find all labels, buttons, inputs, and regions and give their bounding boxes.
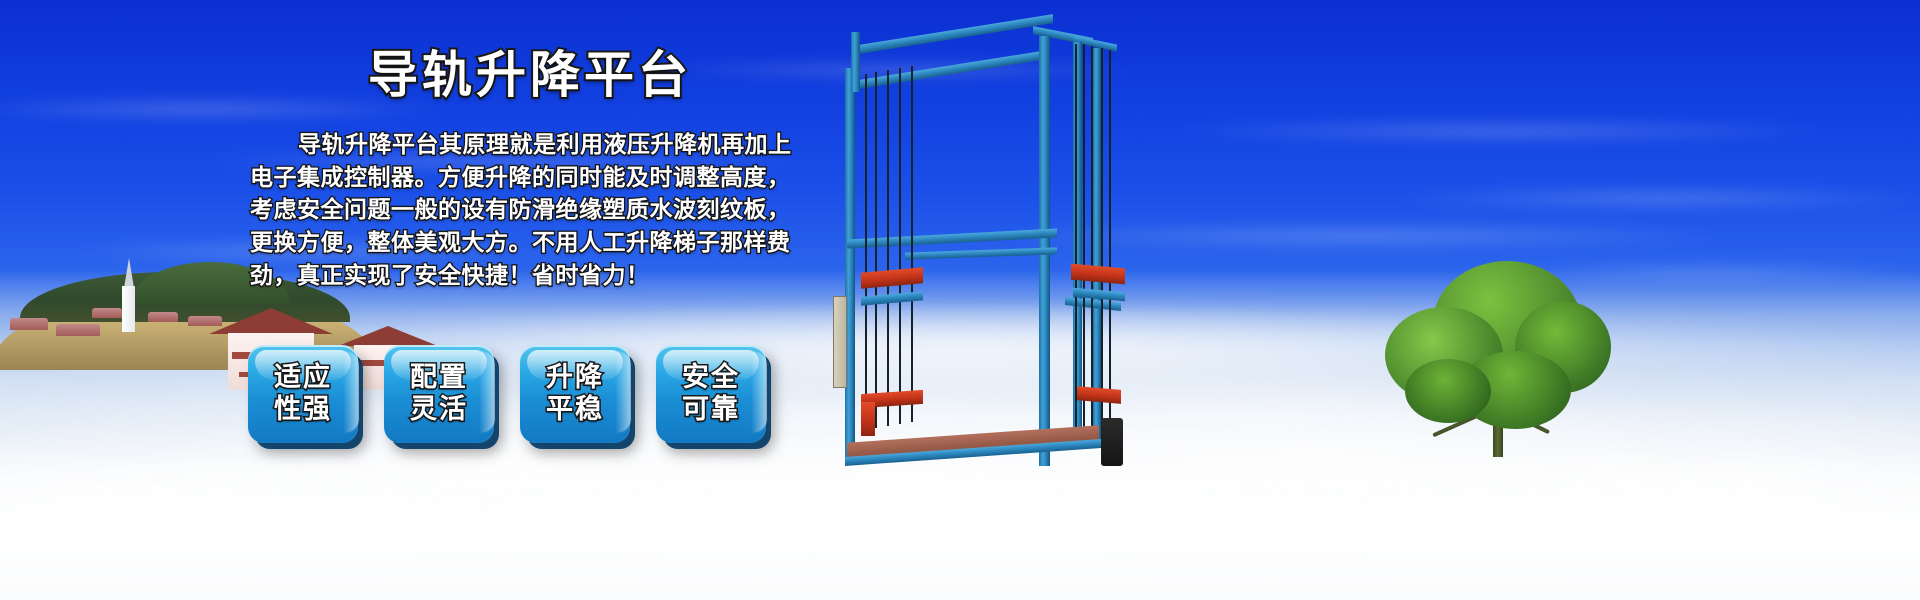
feature-button-line1: 配置 [410, 362, 468, 394]
paragraph-line: 考虑安全问题一般的设有防滑绝缘塑质水波刻纹板， [250, 194, 810, 227]
description-paragraph: 导轨升降平台其原理就是利用液压升降机再加上 电子集成控制器。方便升降的同时能及时… [250, 129, 810, 292]
guide-rail-lift-platform-image [825, 18, 1125, 488]
green-tree [1375, 255, 1615, 460]
feature-button-line2: 灵活 [410, 394, 468, 426]
paragraph-line: 电子集成控制器。方便升降的同时能及时调整高度， [250, 162, 810, 195]
power-unit [1101, 418, 1123, 466]
feature-button-line2: 平稳 [546, 394, 604, 426]
paragraph-line: 导轨升降平台其原理就是利用液压升降机再加上 [250, 129, 810, 162]
feature-button-configuration[interactable]: 配置 灵活 [384, 345, 494, 443]
text-column: 导轨升降平台 导轨升降平台其原理就是利用液压升降机再加上 电子集成控制器。方便升… [250, 48, 810, 292]
red-crosshead-left [861, 267, 923, 288]
feature-button-smooth-lifting[interactable]: 升降 平稳 [520, 345, 630, 443]
feature-button-line1: 安全 [682, 362, 740, 394]
paragraph-line: 劲，真正实现了安全快捷！省时省力！ [250, 260, 810, 293]
feature-button-safety[interactable]: 安全 可靠 [656, 345, 766, 443]
feature-button-line2: 可靠 [682, 394, 740, 426]
feature-button-line1: 适应 [274, 362, 332, 394]
product-banner: 导轨升降平台 导轨升降平台其原理就是利用液压升降机再加上 电子集成控制器。方便升… [0, 0, 1920, 600]
feature-button-line1: 升降 [546, 362, 604, 394]
control-box [833, 296, 847, 388]
feature-button-line2: 性强 [274, 394, 332, 426]
feature-button-adaptability[interactable]: 适应 性强 [248, 345, 358, 443]
page-title: 导轨升降平台 [250, 48, 810, 103]
paragraph-line: 更换方便，整体美观大方。不用人工升降梯子那样费 [250, 227, 810, 260]
feature-button-group: 适应 性强 配置 灵活 升降 平稳 安全 可靠 [248, 345, 766, 443]
